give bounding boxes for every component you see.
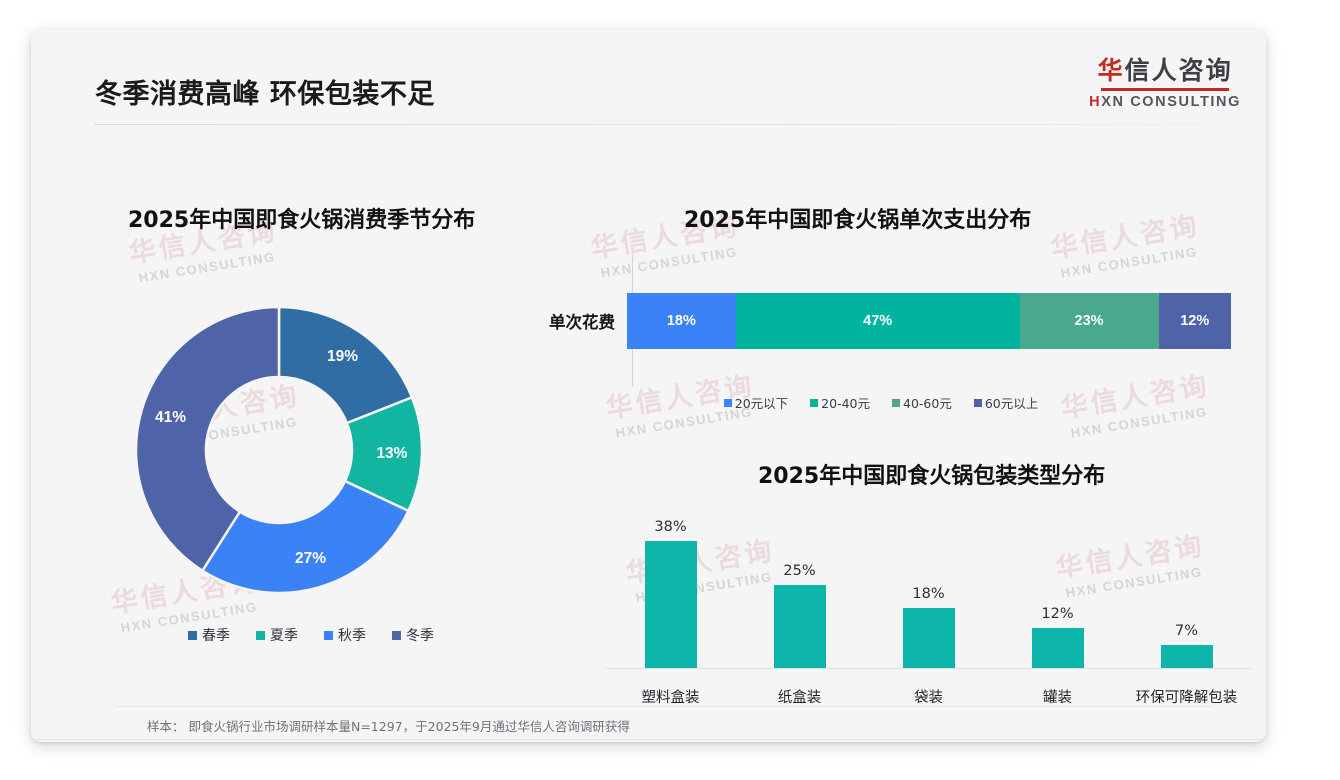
column-bar-group[interactable]: 38% (606, 500, 735, 668)
column-bar-rect[interactable] (1161, 645, 1213, 668)
column-bar-value: 18% (912, 586, 944, 602)
legend-swatch-icon (810, 399, 818, 407)
donut-segment-label: 41% (155, 409, 186, 427)
donut-legend-label: 秋季 (338, 625, 366, 645)
logo-chinese: 华信人咨询 (1089, 58, 1241, 84)
donut-legend-item[interactable]: 春季 (188, 625, 230, 645)
legend-swatch-icon (188, 631, 197, 640)
donut-segment-label: 13% (376, 445, 407, 463)
column-category-label: 袋装 (864, 686, 993, 707)
stacked-bar-chart: 单次花费 18%47%23%12% (531, 255, 1231, 390)
stacked-legend-label: 20-40元 (821, 393, 870, 412)
logo-chinese-dark: 信人咨询 (1125, 56, 1233, 85)
column-bar-group[interactable]: 7% (1122, 500, 1251, 668)
donut-legend-item[interactable]: 冬季 (392, 625, 434, 645)
stacked-legend-item[interactable]: 20-40元 (810, 393, 870, 412)
legend-swatch-icon (892, 399, 900, 407)
column-category-label: 罐装 (993, 686, 1122, 707)
donut-legend: 春季夏季秋季冬季 (131, 625, 491, 645)
column-chart-title: 2025年中国即食火锅包装类型分布 (758, 458, 1105, 490)
footnote: 样本： 即食火锅行业市场调研样本量N=1297，于2025年9月通过华信人咨询调… (147, 716, 630, 735)
legend-swatch-icon (324, 631, 333, 640)
legend-swatch-icon (974, 399, 982, 407)
donut-chart: 19%13%27%41% (133, 285, 493, 615)
slide-footer: ©2025.11 HXR华信人咨询 www.hxrcon.com (31, 740, 1266, 742)
column-bar-rect[interactable] (903, 608, 955, 668)
column-baseline (606, 668, 1251, 669)
column-bar-group[interactable]: 25% (735, 500, 864, 668)
watermark-en: HXN CONSULTING (132, 248, 282, 286)
column-bar-value: 25% (783, 563, 815, 579)
column-bar-value: 12% (1041, 606, 1073, 622)
column-category-label: 塑料盒装 (606, 686, 735, 707)
logo-english-rest: XN CONSULTING (1101, 94, 1241, 110)
column-category-labels: 塑料盒装纸盒装袋装罐装环保可降解包装 (606, 686, 1251, 707)
stacked-legend-label: 20元以下 (735, 393, 788, 412)
donut-segment-label: 19% (327, 348, 358, 366)
stacked-chart-title: 2025年中国即食火锅单次支出分布 (684, 202, 1031, 234)
column-bar-group[interactable]: 18% (864, 500, 993, 668)
column-bar-rect[interactable] (774, 585, 826, 668)
donut-segment-label: 27% (295, 550, 326, 568)
stacked-bar-segment[interactable]: 18% (627, 293, 736, 349)
stacked-bar-segment[interactable]: 12% (1159, 293, 1231, 349)
logo-english: HXN CONSULTING (1089, 94, 1241, 110)
slide-header: 冬季消费高峰 环保包装不足 华信人咨询 HXN CONSULTING (31, 30, 1266, 130)
legend-swatch-icon (392, 631, 401, 640)
donut-legend-item[interactable]: 秋季 (324, 625, 366, 645)
column-category-label: 环保可降解包装 (1122, 686, 1251, 707)
stacked-legend: 20元以下20-40元40-60元60元以上 (531, 393, 1231, 412)
donut-legend-label: 夏季 (270, 625, 298, 645)
column-bar-value: 7% (1175, 623, 1198, 639)
stacked-bar-segment[interactable]: 23% (1020, 293, 1159, 349)
stacked-legend-item[interactable]: 40-60元 (892, 393, 952, 412)
page-title: 冬季消费高峰 环保包装不足 (95, 72, 435, 111)
slide-root: 华信人咨询 HXN CONSULTING 华信人咨询 HXN CONSULTIN… (0, 0, 1340, 780)
column-bar-value: 38% (654, 519, 686, 535)
logo-underline (1101, 88, 1229, 91)
stacked-legend-item[interactable]: 20元以下 (724, 393, 788, 412)
donut-legend-label: 春季 (202, 625, 230, 645)
column-bar-group[interactable]: 12% (993, 500, 1122, 668)
column-bar-rect[interactable] (1032, 628, 1084, 668)
stacked-legend-label: 60元以上 (985, 393, 1038, 412)
slide-card: 华信人咨询 HXN CONSULTING 华信人咨询 HXN CONSULTIN… (31, 30, 1266, 742)
stacked-bar-segment[interactable]: 47% (736, 293, 1020, 349)
logo-english-red: H (1089, 94, 1101, 110)
logo-chinese-red: 华 (1098, 56, 1125, 85)
column-bar-chart: 38%25%18%12%7% 塑料盒装纸盒装袋装罐装环保可降解包装 (606, 500, 1251, 715)
donut-legend-label: 冬季 (406, 625, 434, 645)
stacked-legend-item[interactable]: 60元以上 (974, 393, 1038, 412)
stacked-bar-track: 18%47%23%12% (627, 293, 1231, 349)
stacked-legend-label: 40-60元 (903, 393, 952, 412)
stacked-category-label: 单次花费 (531, 309, 627, 333)
column-bars: 38%25%18%12%7% (606, 500, 1251, 668)
donut-segment[interactable] (202, 481, 408, 593)
header-divider (94, 124, 1204, 125)
column-bar-rect[interactable] (645, 541, 697, 668)
legend-swatch-icon (724, 399, 732, 407)
brand-logo: 华信人咨询 HXN CONSULTING (1089, 58, 1241, 110)
donut-legend-item[interactable]: 夏季 (256, 625, 298, 645)
stacked-bar-row: 单次花费 18%47%23%12% (531, 293, 1231, 349)
donut-chart-title: 2025年中国即食火锅消费季节分布 (128, 202, 475, 234)
legend-swatch-icon (256, 631, 265, 640)
column-category-label: 纸盒装 (735, 686, 864, 707)
